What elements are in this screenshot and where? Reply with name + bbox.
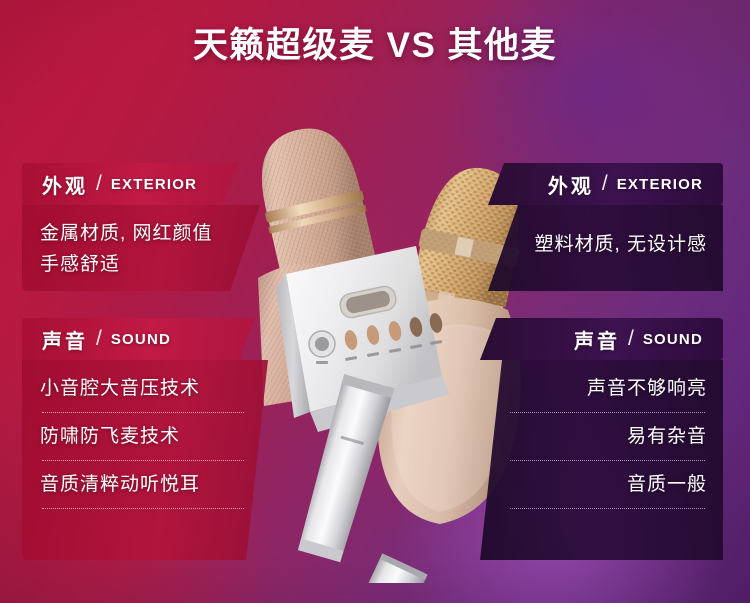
right-sound-separator-2 [510,460,705,461]
left-exterior-body: 金属材质, 网红颜值 手感舒适 [22,205,260,291]
left-exterior-line-1: 金属材质, 网红颜值 [40,218,244,249]
right-sound-heading-en: SOUND [643,331,703,348]
left-exterior-heading-cn: 外观 [42,170,88,199]
right-sound-separator-3 [510,508,705,509]
right-sound-line-3: 音质一般 [498,470,707,508]
right-exterior-card: 外观 / EXTERIOR 塑料材质, 无设计感 [488,163,723,291]
left-sound-heading-en: SOUND [111,331,171,348]
left-sound-header: 声音 / SOUND [22,318,255,360]
right-exterior-body: 塑料材质, 无设计感 [488,205,723,291]
left-sound-line-1: 小音腔大音压技术 [40,374,252,412]
right-sound-header: 声音 / SOUND [480,318,723,360]
left-exterior-heading-en: EXTERIOR [111,176,197,193]
right-sound-card: 声音 / SOUND 声音不够响亮 易有杂音 音质一般 [480,318,723,560]
left-sound-card: 声音 / SOUND 小音腔大音压技术 防啸防飞麦技术 音质清粹动听悦耳 [22,318,268,560]
right-exterior-line-1: 塑料材质, 无设计感 [506,229,707,260]
infographic-canvas: 天籁超级麦 VS 其他麦 [0,0,750,603]
left-sound-separator-3 [42,508,244,509]
right-sound-heading-cn: 声音 [574,325,620,354]
left-sound-line-2: 防啸防飞麦技术 [40,422,252,460]
right-sound-line-2: 易有杂音 [498,422,707,460]
left-exterior-heading-separator: / [96,172,102,196]
right-sound-separator-1 [510,412,705,413]
left-sound-line-3: 音质清粹动听悦耳 [40,470,252,508]
left-sound-heading-separator: / [96,327,102,351]
left-sound-separator-1 [42,412,244,413]
left-sound-heading-cn: 声音 [42,325,88,354]
left-exterior-header: 外观 / EXTERIOR [22,163,238,205]
right-sound-body: 声音不够响亮 易有杂音 音质一般 [480,360,723,560]
right-exterior-heading-cn: 外观 [548,170,594,199]
left-sound-body: 小音腔大音压技术 防啸防飞麦技术 音质清粹动听悦耳 [22,360,268,560]
left-exterior-card: 外观 / EXTERIOR 金属材质, 网红颜值 手感舒适 [22,163,260,291]
right-exterior-heading-en: EXTERIOR [617,176,703,193]
page-title: 天籁超级麦 VS 其他麦 [0,17,750,68]
right-sound-heading-separator: / [628,327,634,351]
left-exterior-line-2: 手感舒适 [40,249,244,280]
right-exterior-heading-separator: / [602,172,608,196]
right-sound-line-1: 声音不够响亮 [498,374,707,412]
right-exterior-header: 外观 / EXTERIOR [488,163,723,205]
left-sound-separator-2 [42,460,244,461]
